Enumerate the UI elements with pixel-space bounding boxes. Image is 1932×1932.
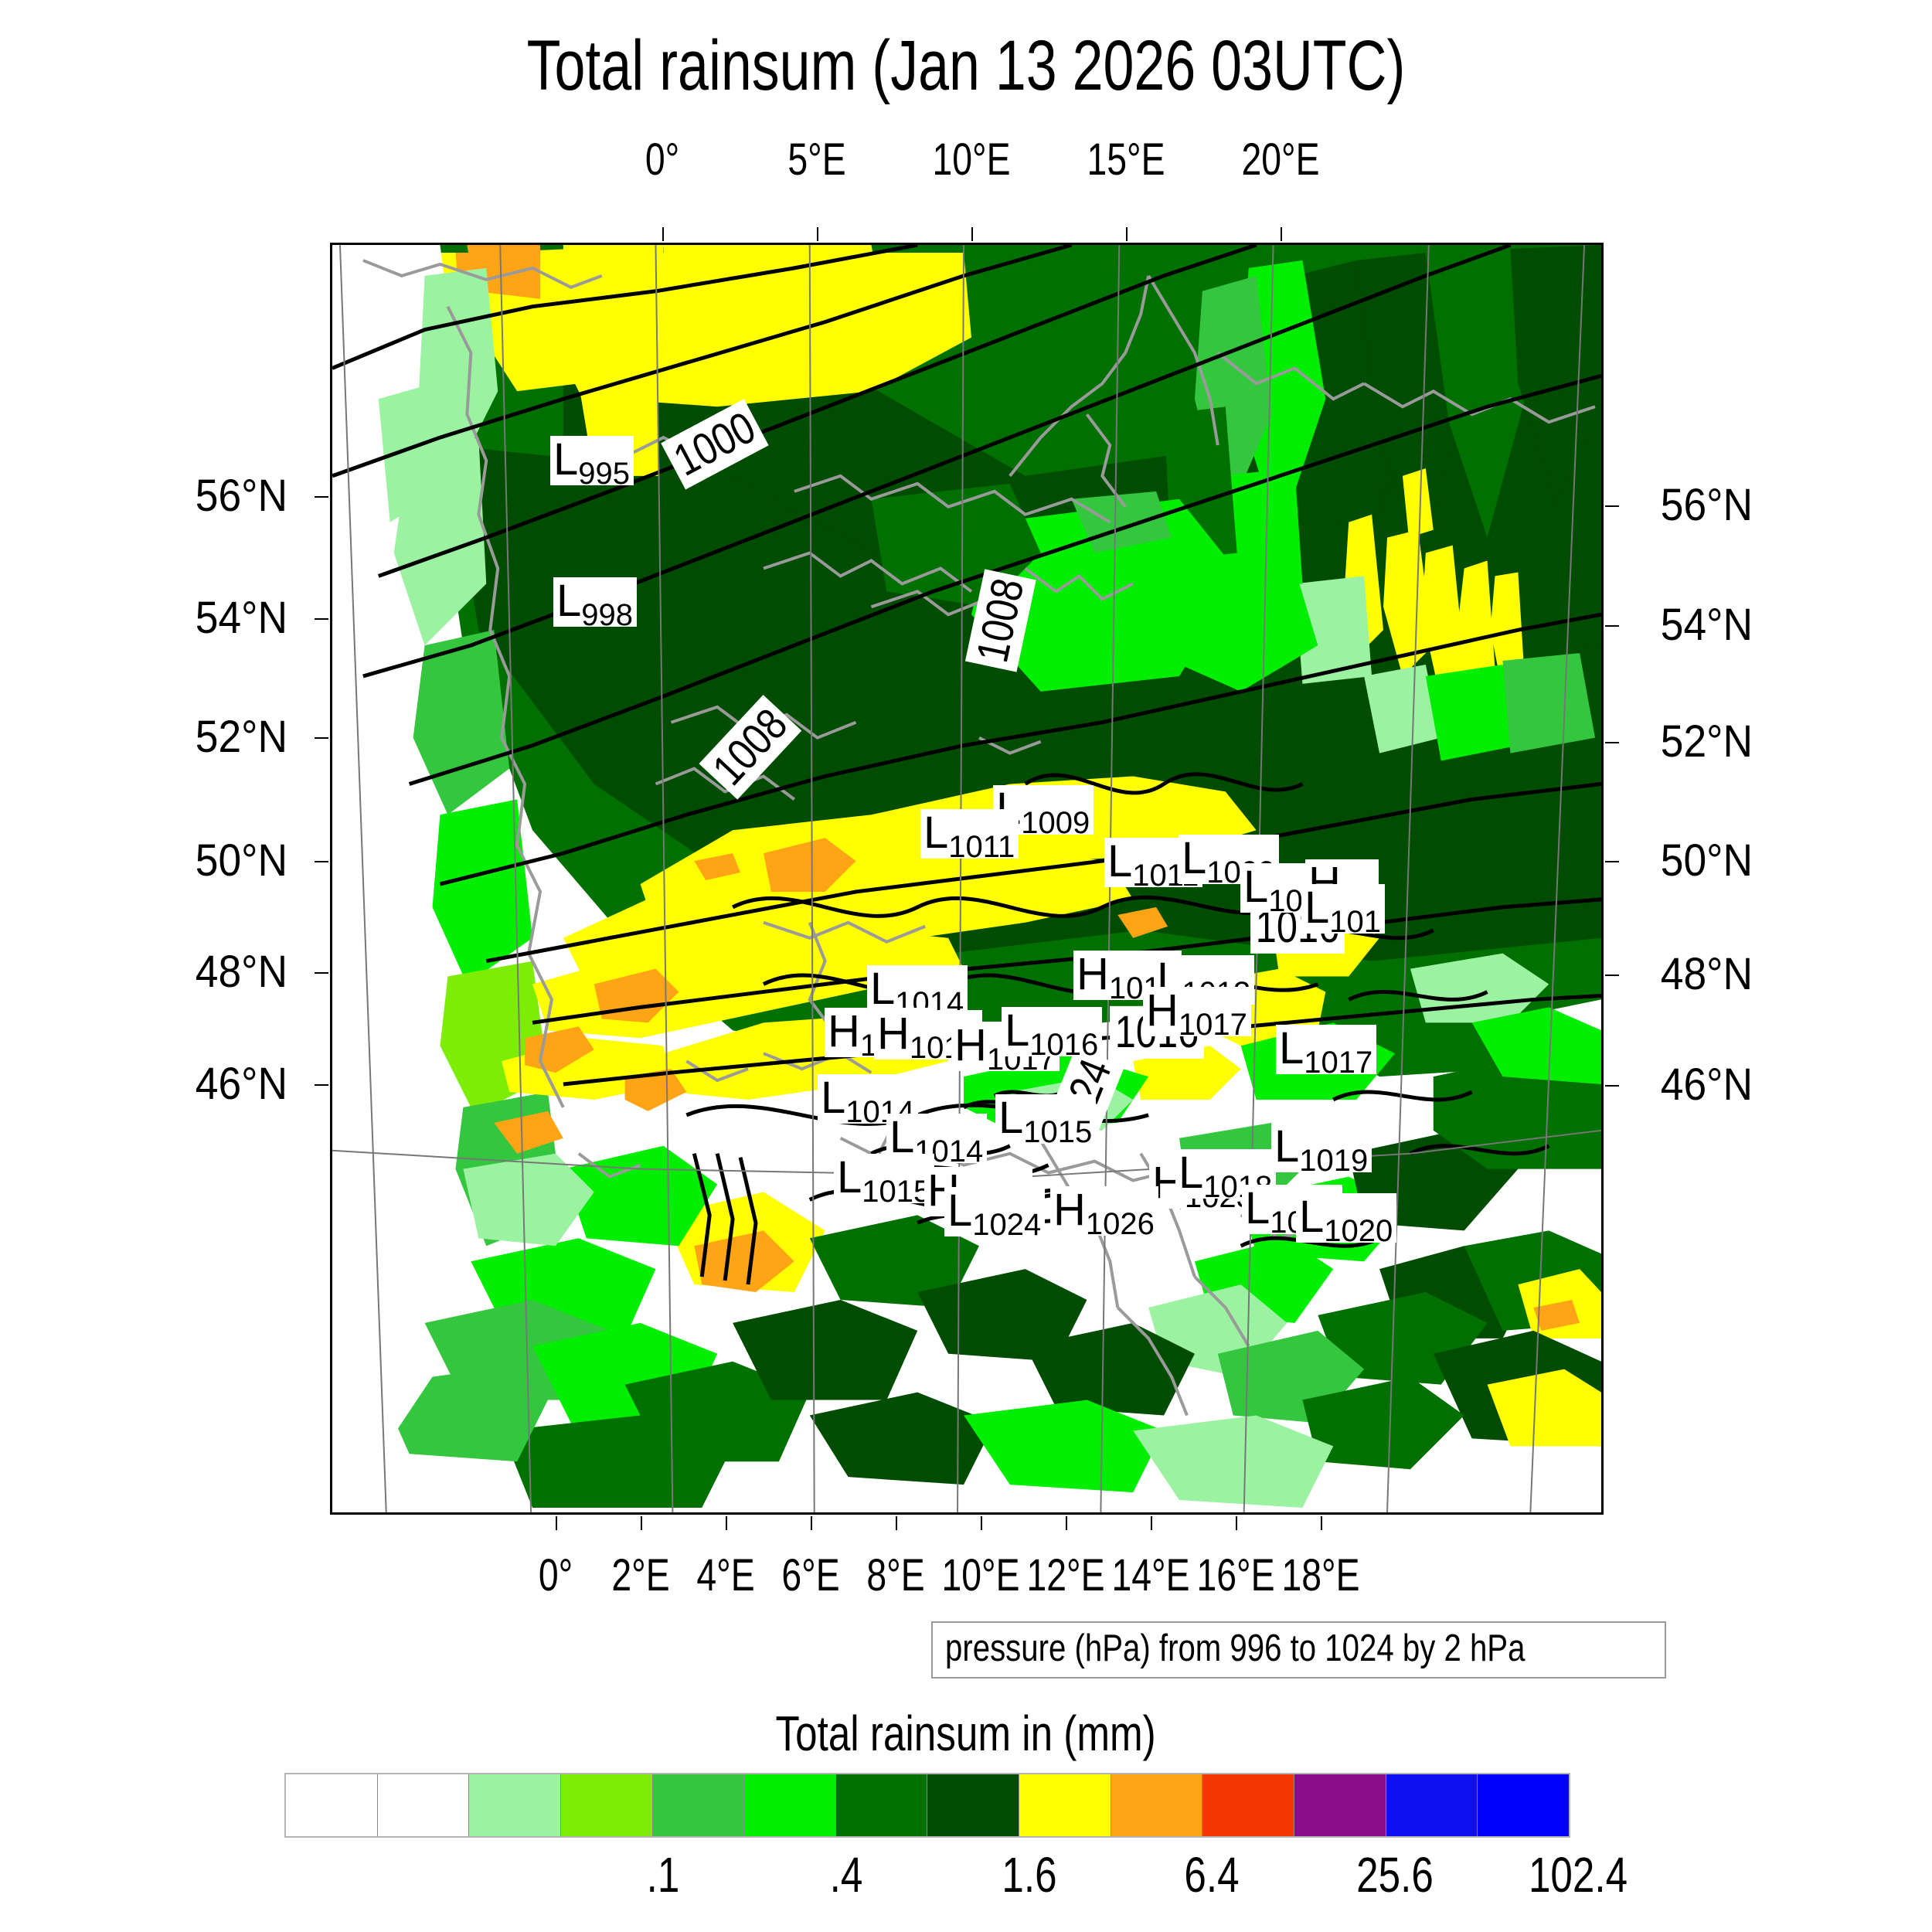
- axis-tick-bottom-4: [896, 1516, 897, 1530]
- axis-label-bottom-7: 14°E: [1111, 1553, 1189, 1598]
- axis-label-right-3: 50°N: [1661, 838, 1817, 883]
- axis-tick-bottom-6: [1066, 1516, 1067, 1530]
- axis-label-bottom-0: 0°: [539, 1553, 573, 1598]
- pressure-center-kind: H: [954, 1020, 987, 1070]
- pressure-center-value: 1026: [1086, 1207, 1155, 1241]
- pressure-center-value: 1011: [948, 830, 1015, 864]
- pressure-center-value: 1024: [972, 1208, 1041, 1242]
- axis-tick-top-4: [1281, 227, 1282, 241]
- map-panel[interactable]: [330, 243, 1604, 1515]
- colorbar-cell-11[interactable]: [1294, 1774, 1386, 1836]
- pressure-center-value: 1017: [1304, 1046, 1372, 1080]
- pressure-center-kind: H: [1146, 985, 1179, 1036]
- pressure-center-l-1015-22: L1015: [834, 1154, 934, 1203]
- weather-map-figure: Total rainsum (Jan 13 2026 03UTC): [0, 0, 1932, 1932]
- axis-tick-top-2: [971, 227, 973, 241]
- colorbar-cell-6[interactable]: [836, 1774, 928, 1836]
- axis-label-right-1: 54°N: [1661, 603, 1817, 648]
- axis-tick-right-0: [1605, 505, 1619, 507]
- axis-tick-left-4: [315, 972, 328, 974]
- axis-label-bottom-4: 8°E: [866, 1553, 924, 1598]
- pressure-center-value: 101: [1329, 905, 1381, 939]
- pressure-center-kind: L: [837, 1152, 862, 1202]
- pressure-center-kind: L: [1107, 836, 1132, 886]
- pressure-center-l-1015-19: L1015: [995, 1094, 1096, 1144]
- colorbar-cell-13[interactable]: [1478, 1774, 1569, 1836]
- page-title: Total rainsum (Jan 13 2026 03UTC): [213, 23, 1719, 108]
- pressure-center-kind: L: [821, 1073, 845, 1123]
- axis-label-bottom-1: 2°E: [611, 1553, 669, 1598]
- pressure-center-value: 1015: [862, 1175, 930, 1209]
- axis-tick-right-5: [1605, 1085, 1619, 1087]
- pressure-center-value: 1015: [1023, 1115, 1092, 1149]
- axis-tick-bottom-2: [726, 1516, 727, 1530]
- axis-label-top-0: 0°: [645, 138, 679, 182]
- colorbar-tick-1: .4: [830, 1849, 863, 1901]
- colorbar-cell-12[interactable]: [1386, 1774, 1478, 1836]
- colorbar-cell-3[interactable]: [561, 1774, 653, 1836]
- colorbar-title: Total rainsum in (mm): [0, 1706, 1932, 1760]
- axis-label-left-5: 46°N: [145, 1062, 287, 1107]
- colorbar-cell-9[interactable]: [1111, 1774, 1203, 1836]
- axis-tick-left-0: [315, 496, 328, 498]
- pressure-center-kind: L: [1182, 833, 1206, 883]
- axis-tick-bottom-7: [1151, 1516, 1152, 1530]
- axis-label-bottom-8: 16°E: [1196, 1553, 1274, 1598]
- pressure-center-kind: L: [553, 434, 578, 485]
- axis-tick-right-2: [1605, 742, 1619, 743]
- pressure-center-kind: L: [556, 576, 581, 626]
- pressure-center-l-995-0: L995: [550, 436, 634, 485]
- axis-label-bottom-6: 12°E: [1026, 1553, 1104, 1598]
- pressure-center-kind: H: [1077, 949, 1109, 999]
- pressure-center-l-101-8: L101: [1301, 884, 1385, 934]
- colorbar-tick-3: 6.4: [1184, 1849, 1239, 1901]
- pressure-center-l-1016-16: L1016: [1002, 1007, 1102, 1056]
- pressure-center-kind: L: [1005, 1005, 1029, 1056]
- axis-label-left-1: 54°N: [145, 596, 287, 641]
- axis-label-left-4: 48°N: [145, 950, 287, 995]
- pressure-center-l-1024-26: L1024: [944, 1187, 1045, 1236]
- axis-tick-top-1: [817, 227, 818, 241]
- pressure-center-kind: L: [870, 964, 895, 1014]
- pressure-center-kind: L: [1274, 1121, 1299, 1172]
- pressure-center-kind: L: [1245, 1183, 1270, 1233]
- pressure-legend-text: pressure (hPa) from 996 to 1024 by 2 hPa: [945, 1628, 1525, 1668]
- rain-field-layer: [332, 245, 1601, 1512]
- axis-label-bottom-5: 10°E: [941, 1553, 1019, 1598]
- axis-label-top-1: 5°E: [787, 138, 845, 182]
- colorbar-cell-10[interactable]: [1202, 1774, 1294, 1836]
- pressure-center-value: 1017: [1179, 1008, 1247, 1042]
- pressure-center-value: 1019: [1299, 1144, 1368, 1178]
- axis-label-right-0: 56°N: [1661, 483, 1817, 528]
- axis-tick-bottom-3: [811, 1516, 812, 1530]
- pressure-center-value: 1009: [1021, 806, 1090, 840]
- map-canvas: [332, 245, 1601, 1512]
- pressure-center-kind: L: [1304, 883, 1329, 933]
- axis-tick-left-1: [315, 618, 328, 620]
- pressure-center-value: 995: [578, 457, 630, 491]
- pressure-center-kind: L: [1299, 1192, 1324, 1242]
- pressure-center-kind: L: [1243, 862, 1268, 912]
- axis-label-left-3: 50°N: [145, 838, 287, 883]
- colorbar-cell-8[interactable]: [1019, 1774, 1111, 1836]
- pressure-center-l-1011-3: L1011: [920, 809, 1019, 859]
- pressure-center-value: 998: [581, 598, 633, 632]
- axis-label-right-4: 48°N: [1661, 952, 1817, 997]
- axis-tick-bottom-5: [981, 1516, 982, 1530]
- pressure-center-l-1017-17: L1017: [1276, 1025, 1376, 1074]
- axis-label-right-2: 52°N: [1661, 719, 1817, 764]
- colorbar-cell-1[interactable]: [378, 1774, 470, 1836]
- axis-label-left-0: 56°N: [145, 474, 287, 519]
- page-title-text: Total rainsum (Jan 13 2026 03UTC): [527, 26, 1406, 105]
- colorbar-tick-2: 1.6: [1002, 1849, 1056, 1901]
- colorbar-cell-4[interactable]: [653, 1774, 745, 1836]
- pressure-center-value: 1016: [1029, 1028, 1098, 1062]
- colorbar-cell-5[interactable]: [744, 1774, 836, 1836]
- colorbar-tick-4: 25.6: [1356, 1849, 1434, 1901]
- axis-tick-top-3: [1126, 227, 1128, 241]
- pressure-center-kind: L: [1179, 1148, 1203, 1198]
- axis-label-bottom-2: 4°E: [696, 1553, 754, 1598]
- axis-label-left-2: 52°N: [145, 715, 287, 760]
- colorbar-title-text: Total rainsum in (mm): [776, 1706, 1156, 1760]
- pressure-center-l-1020-29: L1020: [1296, 1193, 1396, 1243]
- pressure-center-kind: L: [947, 1185, 972, 1236]
- axis-label-bottom-3: 6°E: [781, 1553, 839, 1598]
- pressure-center-kind: L: [923, 808, 948, 858]
- pressure-center-kind: H: [877, 1009, 910, 1059]
- axis-tick-top-0: [662, 227, 664, 241]
- colorbar-cell-0[interactable]: [286, 1774, 378, 1836]
- axis-label-top-4: 20°E: [1241, 138, 1319, 182]
- axis-tick-bottom-0: [556, 1516, 557, 1530]
- axis-tick-bottom-1: [641, 1516, 642, 1530]
- pressure-legend-box: pressure (hPa) from 996 to 1024 by 2 hPa: [931, 1621, 1666, 1679]
- pressure-center-kind: L: [1279, 1023, 1304, 1073]
- pressure-center-h-1026-27: H1026: [1050, 1186, 1158, 1236]
- axis-label-top-2: 10°E: [932, 138, 1010, 182]
- pressure-center-kind: H: [828, 1006, 860, 1056]
- colorbar-cell-2[interactable]: [469, 1774, 561, 1836]
- axis-tick-left-3: [315, 861, 328, 862]
- pressure-center-kind: H: [1053, 1185, 1086, 1235]
- pressure-center-h-1017-11: H1017: [1143, 987, 1251, 1036]
- colorbar-tick-5: 102.4: [1529, 1849, 1628, 1901]
- axis-label-bottom-9: 18°E: [1281, 1553, 1359, 1598]
- pressure-center-l-1019-21: L1019: [1271, 1123, 1372, 1172]
- axis-tick-bottom-8: [1236, 1516, 1237, 1530]
- axis-tick-right-3: [1605, 861, 1619, 862]
- axis-label-top-3: 15°E: [1087, 138, 1165, 182]
- axis-tick-bottom-9: [1321, 1516, 1322, 1530]
- colorbar-tick-0: .1: [647, 1849, 680, 1901]
- colorbar[interactable]: [284, 1773, 1570, 1838]
- axis-tick-left-5: [315, 1084, 328, 1086]
- colorbar-cell-7[interactable]: [927, 1774, 1019, 1836]
- axis-label-right-5: 46°N: [1661, 1063, 1817, 1107]
- axis-tick-right-1: [1605, 625, 1619, 627]
- pressure-center-kind: L: [998, 1093, 1023, 1143]
- pressure-center-value: 1020: [1324, 1214, 1393, 1248]
- pressure-center-l-998-1: L998: [553, 577, 637, 627]
- axis-tick-right-4: [1605, 975, 1619, 976]
- axis-tick-left-2: [315, 737, 328, 739]
